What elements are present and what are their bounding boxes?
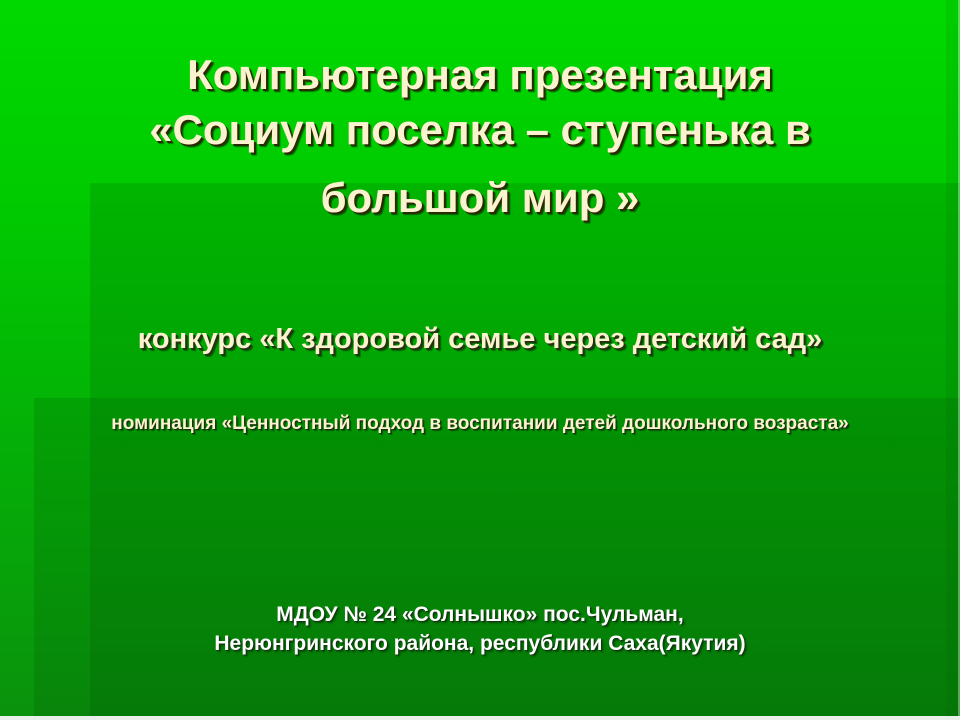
slide-title: Компьютерная презентация «Социум поселка…	[0, 48, 960, 226]
slide-content: Компьютерная презентация «Социум поселка…	[0, 0, 960, 720]
organization-credit-line-2: Нерюнгринского района, республики Саха(Я…	[0, 630, 960, 658]
slide-title-line-2: «Социум поселка – ступенька в	[0, 103, 960, 158]
slide-title-line-3: большой мир »	[0, 171, 960, 226]
organization-credit: МДОУ № 24 «Солнышко» пос.Чульман, Нерюнг…	[0, 601, 960, 658]
slide-title-line-1: Компьютерная презентация	[0, 48, 960, 103]
presentation-slide: Компьютерная презентация «Социум поселка…	[0, 0, 960, 720]
organization-credit-line-1: МДОУ № 24 «Солнышко» пос.Чульман,	[0, 601, 960, 629]
contest-subtitle: конкурс «К здоровой семье через детский …	[0, 322, 960, 357]
nomination-subtitle: номинация «Ценностный подход в воспитани…	[80, 411, 880, 436]
